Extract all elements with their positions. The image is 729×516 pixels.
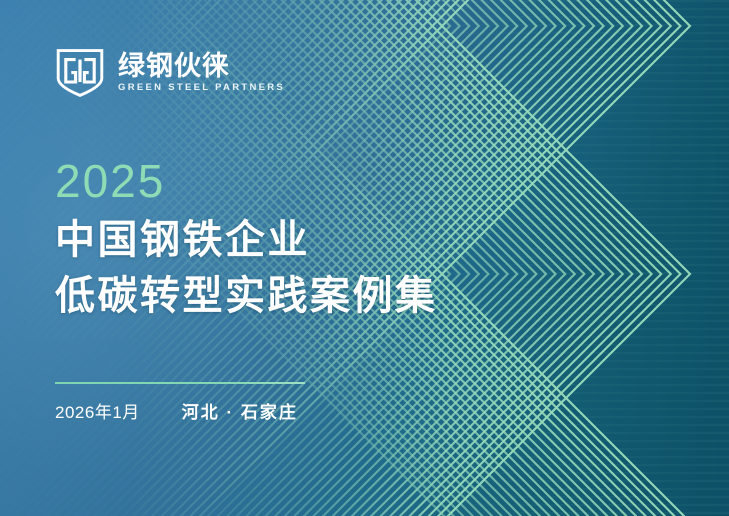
cover-poster: 绿钢伙徕 GREEN STEEL PARTNERS 2025 中国钢铁企业 低碳… <box>0 0 729 516</box>
brand-name-cn: 绿钢伙徕 <box>118 53 285 80</box>
cover-year: 2025 <box>55 158 165 204</box>
footer-date: 2026年1月 <box>55 398 140 423</box>
footer-divider <box>55 382 305 384</box>
brand-name-en: GREEN STEEL PARTNERS <box>118 83 285 93</box>
footer-meta: 2026年1月 河北 · 石家庄 <box>55 398 298 423</box>
cover-title-line-2: 低碳转型实践案例集 <box>55 276 438 316</box>
brand-logo: 绿钢伙徕 GREEN STEEL PARTNERS <box>55 48 285 98</box>
cover-title-line-1: 中国钢铁企业 <box>55 220 310 260</box>
footer-location: 河北 · 石家庄 <box>182 398 298 423</box>
shield-monogram-icon <box>55 48 105 98</box>
